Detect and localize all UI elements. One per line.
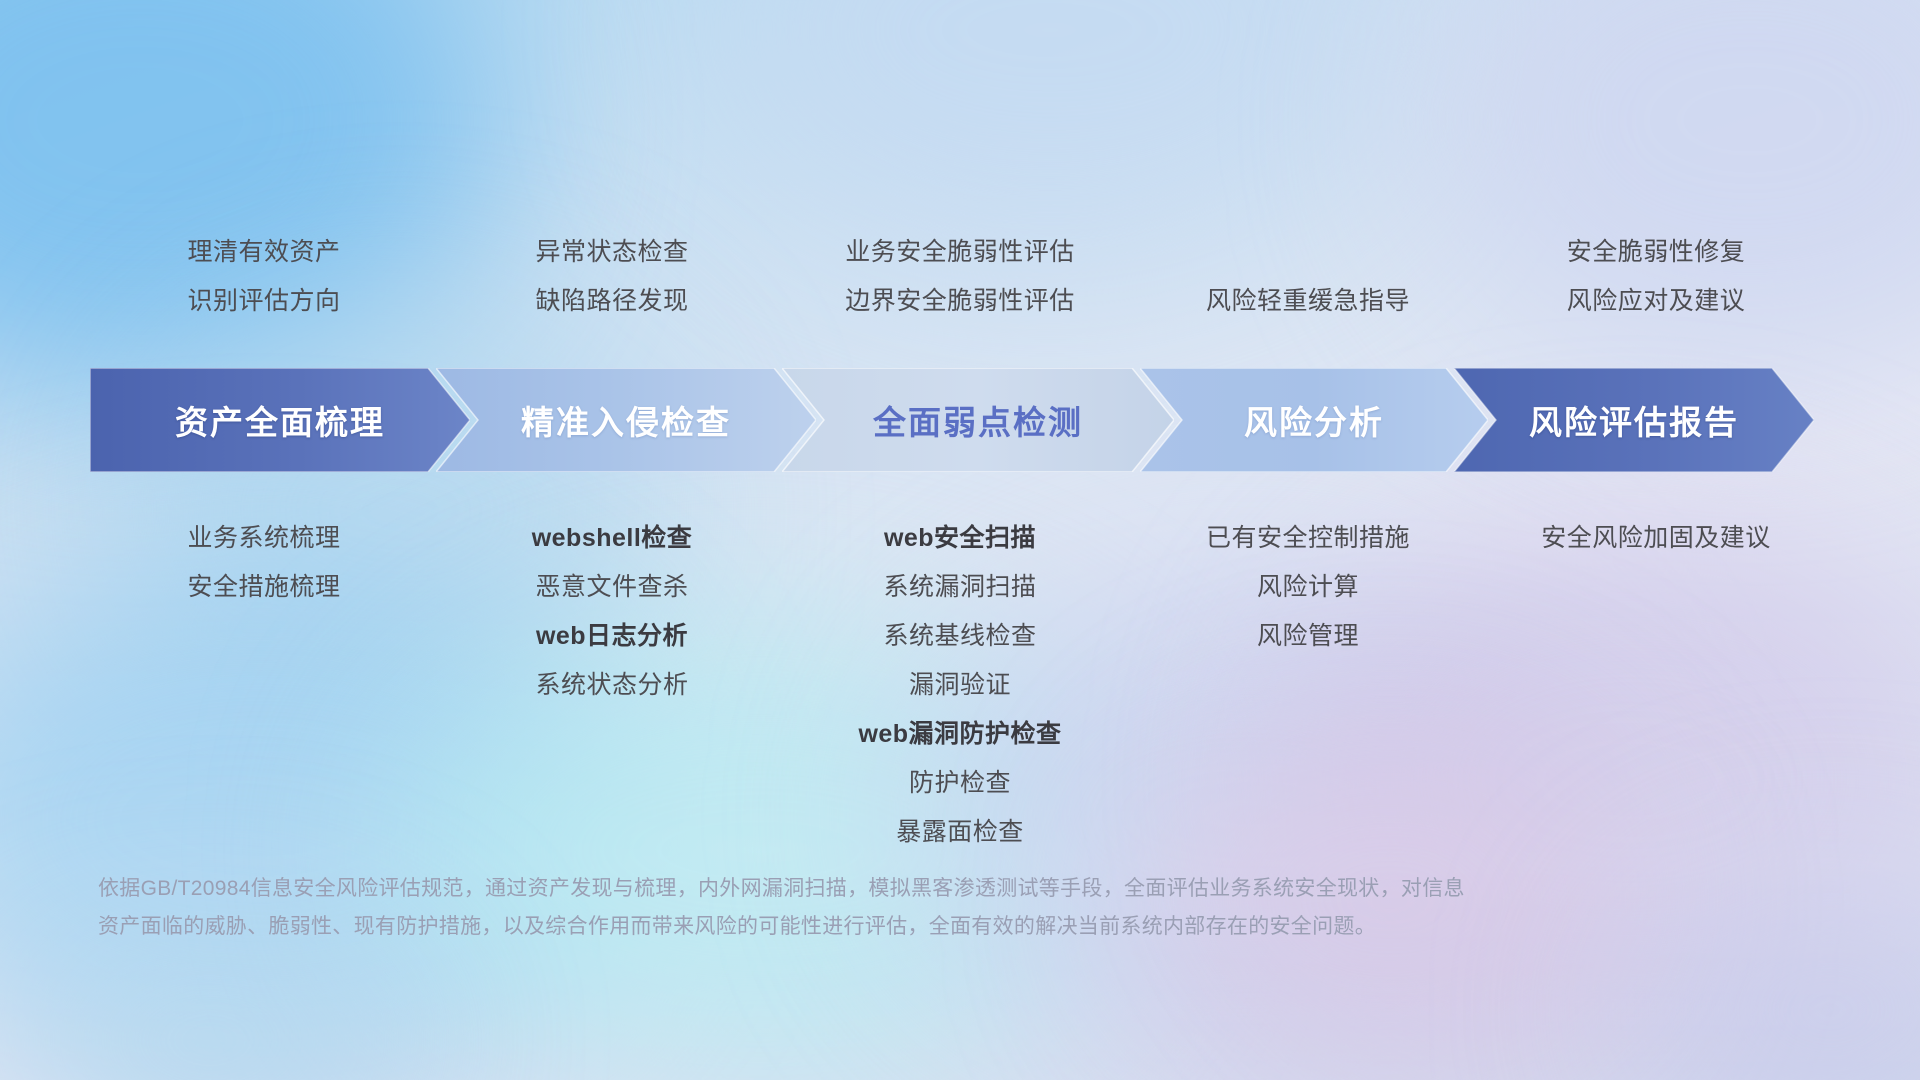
stage-input-item: 风险应对及建议 bbox=[1567, 277, 1746, 326]
stage-outputs-weakness-detection: web安全扫描 系统漏洞扫描 系统基线检查 漏洞验证 web漏洞防护检查 防护检… bbox=[786, 514, 1134, 857]
footer-line: 资产面临的威胁、脆弱性、现有防护措施，以及综合作用而带来风险的可能性进行评估，全… bbox=[98, 908, 1648, 946]
stage-output-item: 漏洞验证 bbox=[909, 661, 1011, 710]
stage-outputs-risk-report: 安全风险加固及建议 bbox=[1482, 514, 1830, 563]
stage-output-item: 系统状态分析 bbox=[535, 661, 688, 710]
stage-chevron-intrusion-check[interactable]: 精准入侵检查 bbox=[436, 368, 816, 472]
stage-outputs-asset-inventory: 业务系统梳理 安全措施梳理 bbox=[90, 514, 438, 612]
stage-title: 全面弱点检测 bbox=[873, 396, 1083, 444]
stage-output-item: 已有安全控制措施 bbox=[1206, 514, 1410, 563]
stage-input-item: 缺陷路径发现 bbox=[535, 277, 688, 326]
stage-output-item: web日志分析 bbox=[536, 612, 688, 661]
stage-input-item: 边界安全脆弱性评估 bbox=[845, 277, 1075, 326]
stage-output-item: web漏洞防护检查 bbox=[858, 710, 1061, 759]
stage-chevron-weakness-detection[interactable]: 全面弱点检测 bbox=[782, 368, 1174, 472]
stage-chevron-risk-analysis[interactable]: 风险分析 bbox=[1140, 368, 1488, 472]
stage-input-item: 业务安全脆弱性评估 bbox=[845, 228, 1075, 277]
stage-output-item: 业务系统梳理 bbox=[187, 514, 340, 563]
infographic-stage: 理清有效资产 识别评估方向 异常状态检查 缺陷路径发现 业务安全脆弱性评估 边界… bbox=[0, 0, 1920, 1080]
stage-input-item: 理清有效资产 bbox=[187, 228, 340, 277]
stage-input-item: 风险轻重缓急指导 bbox=[1206, 277, 1410, 326]
stage-inputs-asset-inventory: 理清有效资产 识别评估方向 bbox=[90, 228, 438, 326]
stage-outputs-risk-analysis: 已有安全控制措施 风险计算 风险管理 bbox=[1134, 514, 1482, 661]
stage-title: 风险评估报告 bbox=[1529, 396, 1739, 444]
stage-outputs-intrusion-check: webshell检查 恶意文件查杀 web日志分析 系统状态分析 bbox=[438, 514, 786, 710]
stage-output-item: 恶意文件查杀 bbox=[535, 563, 688, 612]
stage-title: 资产全面梳理 bbox=[175, 396, 385, 444]
stage-inputs-row: 理清有效资产 识别评估方向 异常状态检查 缺陷路径发现 业务安全脆弱性评估 边界… bbox=[90, 228, 1830, 326]
stage-output-item: 风险计算 bbox=[1257, 563, 1359, 612]
stage-inputs-risk-report: 安全脆弱性修复 风险应对及建议 bbox=[1482, 228, 1830, 326]
stage-input-item: 安全脆弱性修复 bbox=[1567, 228, 1746, 277]
stage-output-item: 安全风险加固及建议 bbox=[1541, 514, 1771, 563]
stage-chevron-asset-inventory[interactable]: 资产全面梳理 bbox=[90, 368, 470, 472]
stage-input-item: 识别评估方向 bbox=[187, 277, 340, 326]
stage-inputs-risk-analysis: 风险轻重缓急指导 bbox=[1134, 228, 1482, 326]
stage-title: 风险分析 bbox=[1244, 396, 1384, 444]
stage-chevron-risk-report[interactable]: 风险评估报告 bbox=[1454, 368, 1814, 472]
stage-output-item: 系统基线检查 bbox=[883, 612, 1036, 661]
stage-output-item: webshell检查 bbox=[532, 514, 693, 563]
stage-outputs-row: 业务系统梳理 安全措施梳理 webshell检查 恶意文件查杀 web日志分析 … bbox=[90, 514, 1830, 857]
stage-output-item: 防护检查 bbox=[909, 759, 1011, 808]
stage-output-item: 安全措施梳理 bbox=[187, 563, 340, 612]
stage-title: 精准入侵检查 bbox=[521, 396, 731, 444]
footer-description: 依据GB/T20984信息安全风险评估规范，通过资产发现与梳理，内外网漏洞扫描，… bbox=[98, 870, 1648, 946]
process-ribbon: 资产全面梳理 bbox=[90, 368, 1832, 472]
stage-output-item: 风险管理 bbox=[1257, 612, 1359, 661]
stage-output-item: 系统漏洞扫描 bbox=[883, 563, 1036, 612]
stage-inputs-weakness-detection: 业务安全脆弱性评估 边界安全脆弱性评估 bbox=[786, 228, 1134, 326]
stage-input-item: 异常状态检查 bbox=[535, 228, 688, 277]
stage-output-item: web安全扫描 bbox=[884, 514, 1036, 563]
stage-inputs-intrusion-check: 异常状态检查 缺陷路径发现 bbox=[438, 228, 786, 326]
stage-output-item: 暴露面检查 bbox=[896, 808, 1024, 857]
diagram-content: 理清有效资产 识别评估方向 异常状态检查 缺陷路径发现 业务安全脆弱性评估 边界… bbox=[0, 0, 1920, 1080]
footer-line: 依据GB/T20984信息安全风险评估规范，通过资产发现与梳理，内外网漏洞扫描，… bbox=[98, 870, 1648, 908]
